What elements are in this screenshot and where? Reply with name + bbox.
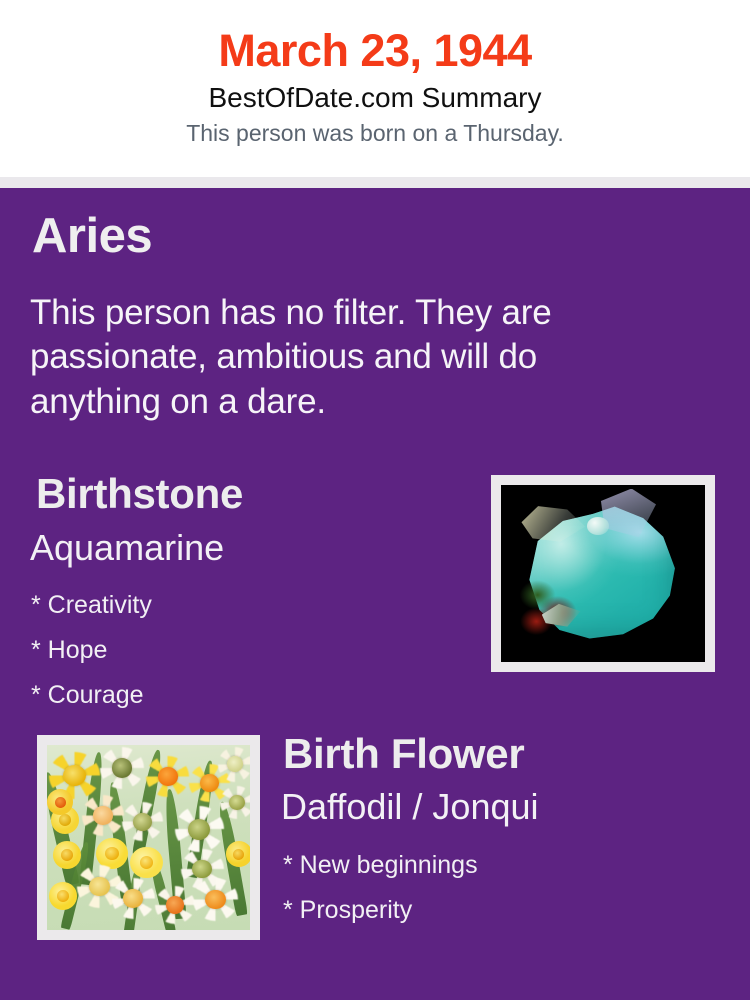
aquamarine-crystal-icon: [501, 485, 705, 662]
list-item: * Creativity: [31, 583, 152, 628]
list-item: * New beginnings: [283, 843, 478, 888]
header: March 23, 1944 BestOfDate.com Summary Th…: [0, 0, 750, 177]
main-panel: Aries This person has no filter. They ar…: [0, 188, 750, 1000]
birth-flower-trait-list: * New beginnings * Prosperity: [283, 843, 478, 933]
daffodil-field-icon: [47, 745, 250, 930]
birthday-summary-infographic: March 23, 1944 BestOfDate.com Summary Th…: [0, 0, 750, 1000]
list-item: * Hope: [31, 628, 152, 673]
birthstone-image-frame: [491, 475, 715, 672]
birth-flower-image-frame: [37, 735, 260, 940]
born-day-label: This person was born on a Thursday.: [0, 114, 750, 146]
page-title: March 23, 1944: [0, 0, 750, 74]
header-divider: [0, 177, 750, 188]
birthstone-trait-list: * Creativity * Hope * Courage: [31, 583, 152, 717]
list-item: * Courage: [31, 673, 152, 718]
birth-flower-name: Daffodil / Jonqui: [281, 789, 539, 825]
birthstone-image: [501, 485, 705, 662]
zodiac-description: This person has no filter. They are pass…: [30, 291, 655, 424]
site-summary-label: BestOfDate.com Summary: [0, 74, 750, 114]
birthstone-name: Aquamarine: [30, 530, 224, 566]
birth-flower-image: [47, 745, 250, 930]
birth-flower-heading: Birth Flower: [283, 733, 524, 775]
list-item: * Prosperity: [283, 888, 478, 933]
zodiac-sign-heading: Aries: [32, 212, 152, 261]
birthstone-heading: Birthstone: [36, 473, 243, 515]
